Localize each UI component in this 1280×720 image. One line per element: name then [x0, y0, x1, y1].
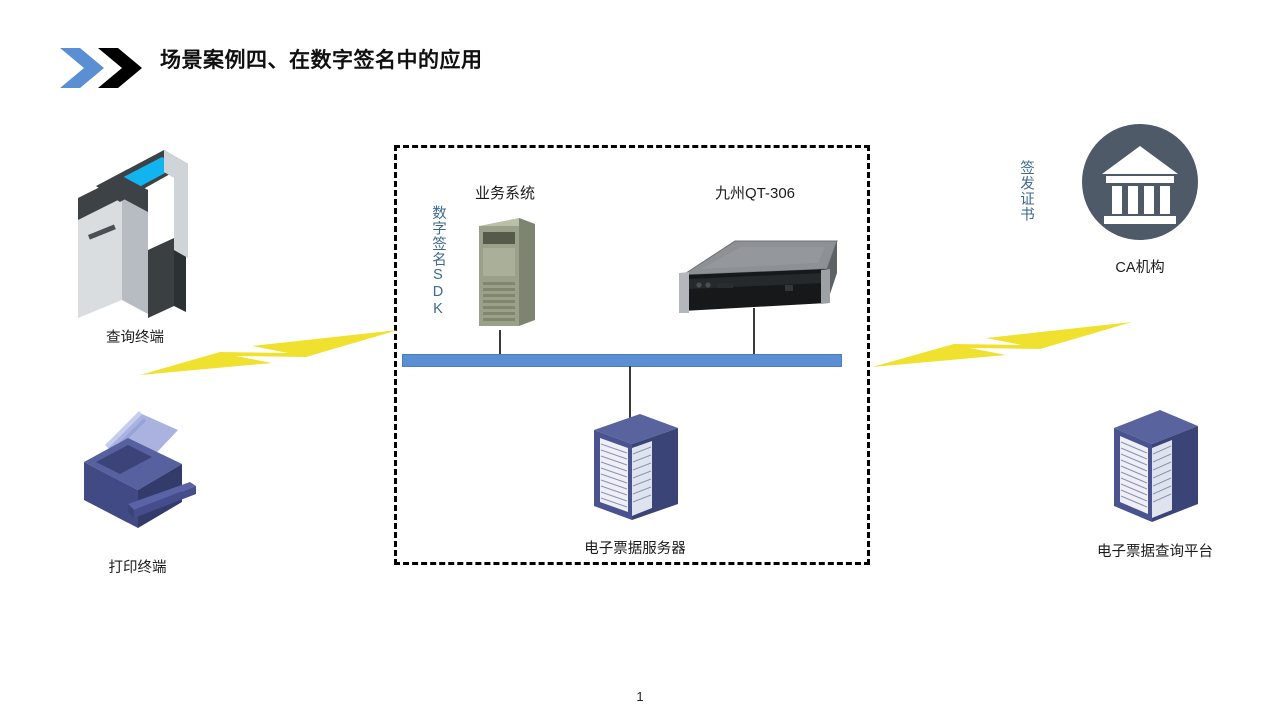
rack-server-icon — [582, 412, 692, 532]
node-query-terminal[interactable]: 查询终端 — [70, 138, 200, 338]
node-bill-query-platform[interactable]: 电子票据查询平台 — [1080, 408, 1230, 568]
bus-link-qt306 — [753, 308, 755, 356]
tower-server-icon — [463, 214, 563, 334]
printer-icon — [70, 408, 205, 548]
node-qt306-appliance[interactable]: 九州QT-306 — [685, 182, 860, 332]
node-caption: 电子票据服务器 — [584, 537, 686, 558]
page-number: 1 — [0, 689, 1280, 704]
lightning-bolt-icon-left — [140, 326, 400, 384]
slide-header: 场景案例四、在数字签名中的应用 — [0, 38, 1280, 94]
network-bus — [402, 354, 842, 367]
bus-link-bill-server — [629, 366, 631, 418]
node-print-terminal[interactable]: 打印终端 — [70, 408, 205, 593]
node-caption: 电子票据查询平台 — [1097, 540, 1213, 561]
double-chevron-icon — [58, 46, 144, 90]
node-caption: 打印终端 — [109, 556, 167, 577]
node-caption: CA机构 — [1115, 256, 1164, 277]
bus-link-business-system — [499, 330, 501, 356]
kiosk-terminal-icon — [70, 138, 200, 318]
bank-institution-icon — [1080, 122, 1200, 242]
node-ca-authority[interactable]: CA机构 — [1075, 122, 1205, 292]
node-label: 业务系统 — [475, 182, 535, 203]
lightning-bolt-icon-right — [872, 318, 1134, 376]
rack-server-icon — [1102, 408, 1212, 533]
node-label: 九州QT-306 — [715, 182, 795, 203]
node-business-system[interactable]: 业务系统 — [455, 182, 555, 342]
annotation-digital-signature-sdk: 数字签名SDK — [428, 205, 449, 318]
annotation-issue-certificate: 签发证书 — [1016, 160, 1037, 222]
node-bill-server[interactable]: 电子票据服务器 — [565, 412, 705, 572]
page-title: 场景案例四、在数字签名中的应用 — [160, 44, 483, 74]
rack-appliance-icon — [675, 227, 850, 337]
